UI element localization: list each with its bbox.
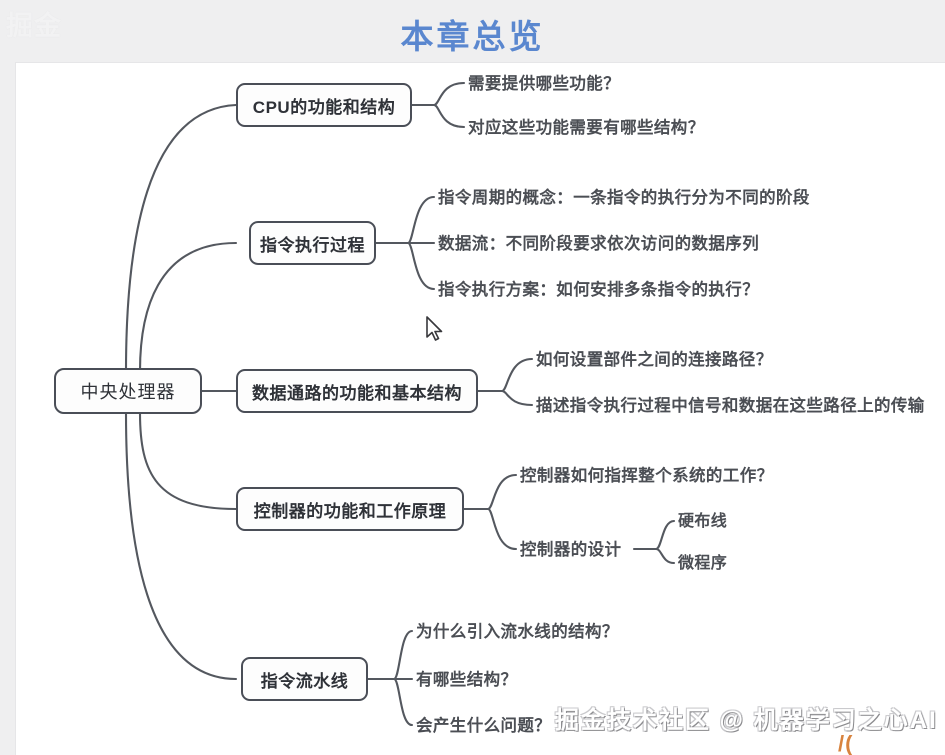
- edge-branch4-child-1: [488, 475, 516, 509]
- node-branch-2-label: 指令执行过程: [260, 231, 365, 256]
- edge-branch2-child-1: [408, 197, 434, 243]
- leaf-branch1-child-2[interactable]: 对应这些功能需要有哪些结构？: [468, 120, 705, 137]
- node-branch-3-label: 数据通路的功能和基本结构: [252, 379, 462, 404]
- bottom-watermark-orange: /(: [838, 731, 853, 755]
- leaf-branch4-sub-child-2[interactable]: 微程序: [678, 556, 727, 572]
- leaf-branch2-child-1[interactable]: 指令周期的概念：一条指令的执行分为不同的阶段: [438, 190, 810, 207]
- node-root[interactable]: 中央处理器: [54, 368, 202, 414]
- node-root-label: 中央处理器: [81, 378, 176, 404]
- screenshot-root: 掘金 本章总览: [0, 0, 945, 755]
- edge-root-to-branch-5: [126, 413, 236, 679]
- edge-branch3-child-1: [502, 359, 532, 391]
- leaf-branch4-sub-child-1[interactable]: 硬布线: [678, 514, 727, 530]
- leaf-branch2-child-3[interactable]: 指令执行方案：如何安排多条指令的执行？: [438, 282, 759, 299]
- leaf-branch1-child-1[interactable]: 需要提供哪些功能？: [468, 76, 620, 93]
- edge-branch2-child-3: [408, 243, 434, 289]
- node-branch-datapath-function-structure[interactable]: 数据通路的功能和基本结构: [236, 369, 478, 413]
- leaf-branch4-child-1[interactable]: 控制器如何指挥整个系统的工作？: [520, 468, 774, 485]
- edge-branch1-child-1: [434, 83, 464, 105]
- node-branch-instruction-execution[interactable]: 指令执行过程: [249, 221, 376, 265]
- edge-branch5-child-1: [394, 631, 412, 679]
- header-band: 掘金 本章总览: [0, 0, 945, 62]
- leaf-branch2-child-2[interactable]: 数据流：不同阶段要求依次访问的数据序列: [438, 236, 759, 253]
- page-title: 本章总览: [0, 10, 945, 58]
- leaf-branch4-child-2[interactable]: 控制器的设计: [520, 542, 621, 559]
- edge-root-to-branch-2: [140, 243, 236, 371]
- bottom-watermark: 掘金技术社区 @ 机器学习之心AI: [555, 700, 938, 735]
- edge-root-to-branch-4: [140, 413, 236, 509]
- edge-branch1-child-2: [434, 105, 464, 127]
- node-branch-4-label: 控制器的功能和工作原理: [254, 497, 447, 522]
- edge-branch4-sub-child-2: [656, 549, 674, 563]
- leaf-branch5-child-1[interactable]: 为什么引入流水线的结构？: [416, 624, 619, 641]
- edge-branch4-sub-child-1: [656, 521, 674, 549]
- leaf-branch5-child-2[interactable]: 有哪些结构？: [416, 672, 517, 689]
- leaf-branch3-child-1[interactable]: 如何设置部件之间的连接路径？: [536, 352, 773, 369]
- node-branch-controller-function-principle[interactable]: 控制器的功能和工作原理: [236, 487, 464, 531]
- edge-branch5-child-3: [394, 679, 412, 725]
- edge-branch4-child-2: [488, 509, 516, 549]
- node-branch-5-label: 指令流水线: [261, 667, 349, 692]
- node-branch-cpu-function-structure[interactable]: CPU的功能和结构: [236, 83, 412, 127]
- edge-branch3-child-2: [502, 391, 532, 405]
- node-branch-instruction-pipeline[interactable]: 指令流水线: [241, 657, 368, 701]
- leaf-branch5-child-3[interactable]: 会产生什么问题？: [416, 718, 551, 735]
- mindmap-canvas[interactable]: 中央处理器 CPU的功能和结构 需要提供哪些功能？ 对应这些功能需要有哪些结构？…: [15, 62, 945, 755]
- leaf-branch3-child-2[interactable]: 描述指令执行过程中信号和数据在这些路径上的传输: [536, 398, 925, 415]
- node-branch-1-label: CPU的功能和结构: [253, 93, 395, 118]
